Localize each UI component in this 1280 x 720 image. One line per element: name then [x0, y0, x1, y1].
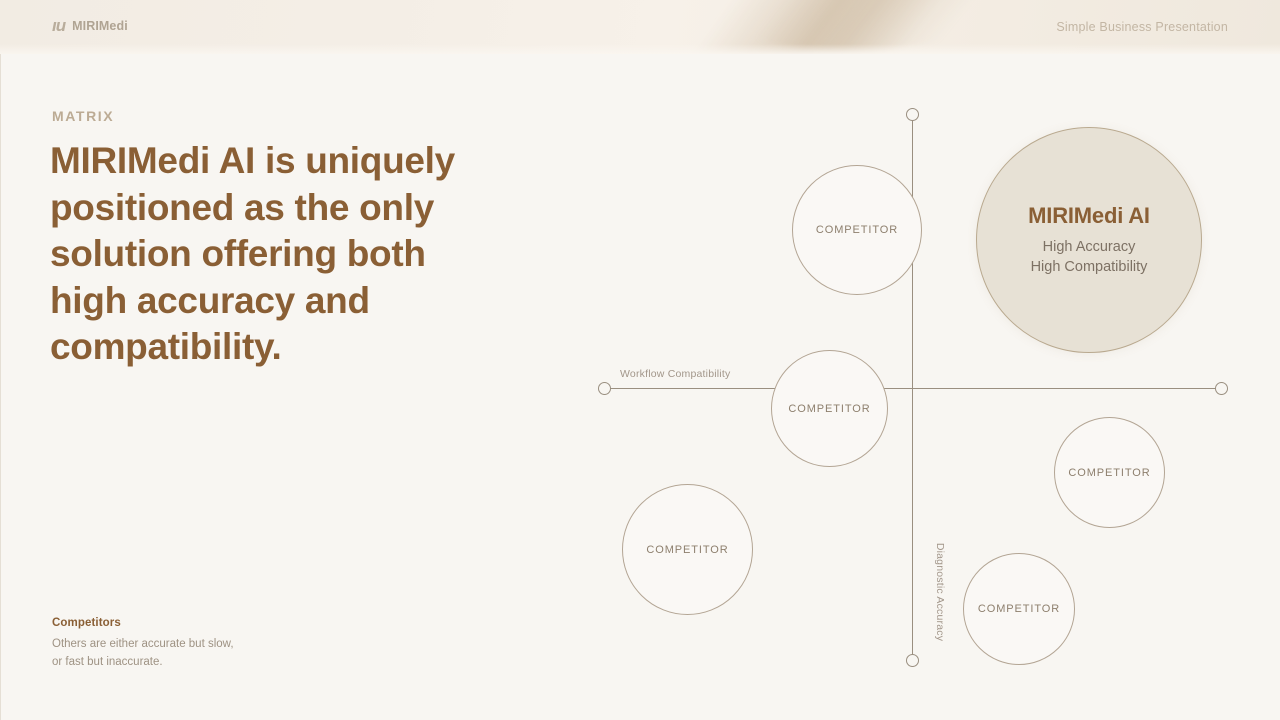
bubble-competitor-bottom-left[interactable]: COMPETITOR: [622, 484, 753, 615]
bubble-competitor-right[interactable]: COMPETITOR: [1054, 417, 1165, 528]
y-axis-label: Diagnostic Accuracy: [934, 532, 946, 652]
x-axis-cap-right-icon: [1215, 382, 1228, 395]
bubble-mirimedi-ai[interactable]: MIRIMedi AI High Accuracy High Compatibi…: [976, 127, 1202, 353]
bubble-title: MIRIMedi AI: [1028, 203, 1150, 229]
positioning-matrix: Workflow Compatibility Diagnostic Accura…: [0, 0, 1280, 720]
bubble-label: COMPETITOR: [788, 403, 870, 415]
bubble-competitor-center-left[interactable]: COMPETITOR: [771, 350, 888, 467]
y-axis-cap-bottom-icon: [906, 654, 919, 667]
x-axis-cap-left-icon: [598, 382, 611, 395]
bubble-subtitle: High Accuracy High Compatibility: [1031, 238, 1148, 277]
bubble-competitor-top-left[interactable]: COMPETITOR: [792, 165, 922, 295]
slide: ıu MIRIMedi Simple Business Presentation…: [0, 0, 1280, 720]
bubble-competitor-bottom-right[interactable]: COMPETITOR: [963, 553, 1075, 665]
x-axis-label: Workflow Compatibility: [620, 368, 730, 380]
bubble-label: COMPETITOR: [816, 224, 898, 236]
y-axis-cap-top-icon: [906, 108, 919, 121]
bubble-label: COMPETITOR: [646, 544, 728, 556]
bubble-label: COMPETITOR: [978, 603, 1060, 615]
bubble-label: COMPETITOR: [1068, 467, 1150, 479]
